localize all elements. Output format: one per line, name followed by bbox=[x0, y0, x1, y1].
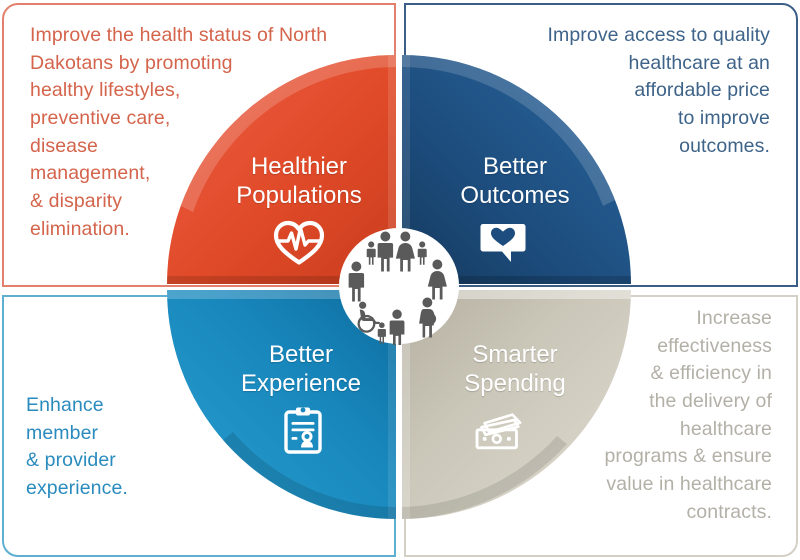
clipboard-person-icon bbox=[277, 406, 329, 456]
description-better-experience: Enhance member & provider experience. bbox=[26, 392, 276, 503]
wedge-label-healthier-populations: Healthier Populations bbox=[196, 152, 402, 211]
description-better-outcomes: Improve access to quality healthcare at … bbox=[440, 22, 770, 160]
speech-bubble-heart-icon bbox=[477, 216, 529, 266]
diagram-canvas: Improve the health status of North Dakot… bbox=[0, 0, 800, 560]
wedge-label-better-experience: Better Experience bbox=[198, 340, 404, 399]
wedge-label-smarter-spending: Smarter Spending bbox=[420, 340, 610, 399]
wedge-label-better-outcomes: Better Outcomes bbox=[420, 152, 610, 211]
people-circle-icon bbox=[338, 227, 460, 345]
money-bills-icon bbox=[473, 408, 525, 458]
heart-pulse-icon bbox=[273, 216, 325, 266]
description-smarter-spending: Increase effectiveness & efficiency in t… bbox=[560, 305, 772, 527]
